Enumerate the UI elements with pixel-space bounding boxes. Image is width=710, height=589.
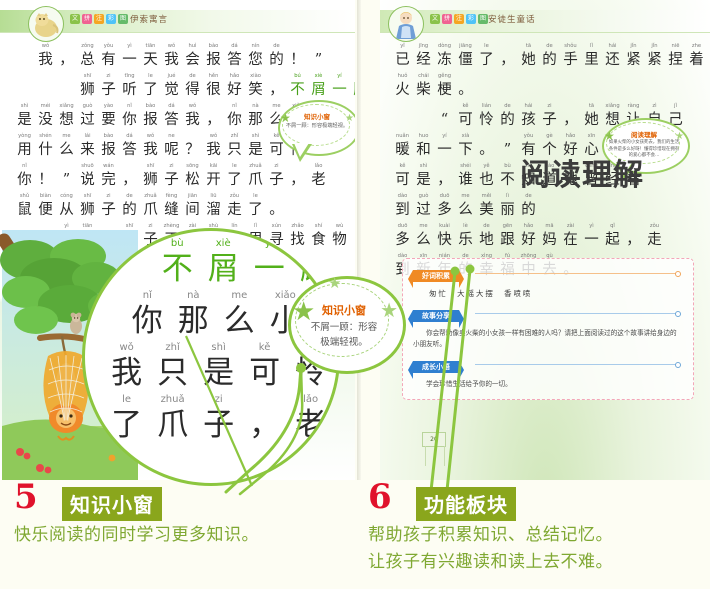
- promo-page-root: 文 拼 注 彩 图 伊索寓言 wǒ我，zǒng总yǒu有yì一tiān天wǒ我h…: [0, 0, 710, 589]
- hanzi: ，: [203, 110, 224, 130]
- pinyin: xiào: [245, 72, 266, 80]
- hanzi: ，: [434, 170, 455, 190]
- pinyin: shuō: [77, 162, 98, 170]
- pinyin: yǒu: [518, 132, 539, 140]
- annotated-char: de的: [119, 192, 140, 220]
- hanzi: ，: [242, 407, 288, 443]
- annotated-char: me么: [413, 222, 434, 250]
- hanzi: 经: [413, 50, 434, 70]
- annotated-char: yí一: [246, 237, 292, 287]
- hanzi: 可: [392, 170, 413, 190]
- hanzi: ，: [560, 110, 581, 130]
- annotated-char: gěng梗: [434, 72, 455, 100]
- pinyin: dòng: [434, 42, 455, 50]
- panel-rule: [475, 364, 679, 365]
- feature-panel: 好词积累匆忙 大摇大摆 香喷喷: [413, 265, 683, 299]
- annotated-char: mā妈: [539, 222, 560, 250]
- annotated-char: de得: [182, 72, 203, 100]
- annotated-char: qǐ起: [602, 222, 623, 250]
- pinyin: zi: [161, 162, 182, 170]
- hanzi: 已: [392, 50, 413, 70]
- annotated-char: zi子: [161, 162, 182, 190]
- annotated-char: jiāng僵: [455, 42, 476, 70]
- hanzi: 跟: [497, 230, 518, 250]
- annotated-char: hěn很: [203, 72, 224, 100]
- text-line: shī狮zi子tīng听le了jué觉de得hěn很hǎo好xiào笑，bú不x…: [14, 72, 355, 102]
- pinyin: dá: [119, 132, 140, 140]
- pinyin: zhǎo: [287, 222, 308, 230]
- annotated-char: ，: [287, 162, 308, 190]
- pinyin: biàn: [35, 192, 56, 200]
- hanzi: 乐: [455, 230, 476, 250]
- pinyin: yì: [581, 222, 602, 230]
- hanzi: 一: [119, 50, 140, 70]
- annotated-char: shī狮: [140, 162, 161, 190]
- hanzi: 在: [560, 230, 581, 250]
- hanzi: 答: [224, 50, 245, 70]
- annotated-char: ，: [623, 222, 644, 250]
- annotated-char: dá答: [119, 132, 140, 160]
- pinyin: wǒ: [140, 132, 161, 140]
- hanzi: 老: [308, 170, 329, 190]
- pinyin: nǐ: [119, 102, 140, 110]
- hanzi: 过: [77, 110, 98, 130]
- badge-icon-4: 彩: [106, 14, 116, 24]
- pinyin: [623, 222, 644, 230]
- pinyin: jiāng: [455, 42, 476, 50]
- pinyin: dào: [392, 192, 413, 200]
- knowledge-bubble-magnified: ★ ★ ★ 知识小窗 不屑一顾：形容 极端轻视。: [288, 276, 400, 394]
- text-line: wǒ我，zǒng总yǒu有yì一tiān天wǒ我huì会bào报dá答nín您d…: [14, 42, 355, 72]
- annotated-char: ，: [434, 162, 455, 190]
- pinyin: gè: [539, 132, 560, 140]
- pinyin: niē: [665, 42, 686, 50]
- hanzi: 多: [434, 200, 455, 220]
- hanzi: 妈: [539, 230, 560, 250]
- hanzi: 快: [434, 230, 455, 250]
- annotated-char: ”: [56, 162, 77, 190]
- annotated-char: biàn便: [35, 192, 56, 220]
- pinyin: shén: [35, 132, 56, 140]
- pinyin: shí: [308, 222, 329, 230]
- hanzi: 我: [35, 50, 56, 70]
- annotated-char: wán完: [98, 162, 119, 190]
- annotated-char: shǒu手: [560, 42, 581, 70]
- annotated-char: yòng用: [14, 132, 35, 160]
- pinyin: liū: [203, 192, 224, 200]
- pinyin: de: [119, 192, 140, 200]
- pinyin: jīng: [413, 42, 434, 50]
- hanzi: 笑: [245, 80, 266, 100]
- annotated-char: duō多: [434, 192, 455, 220]
- pinyin: tīng: [119, 72, 140, 80]
- annotated-char: ，: [119, 162, 140, 190]
- hanzi: 僵: [455, 50, 476, 70]
- pinyin: bú: [287, 72, 308, 80]
- pinyin: le: [140, 72, 161, 80]
- pinyin: shī: [77, 192, 98, 200]
- hanzi: ”: [497, 140, 518, 160]
- pinyin: duō: [392, 222, 413, 230]
- caption-number-6: 6: [368, 480, 392, 514]
- hanzi: ，: [497, 50, 518, 70]
- pinyin: huì: [182, 42, 203, 50]
- annotated-char: kuài快: [434, 222, 455, 250]
- annotated-char: yě也: [476, 162, 497, 190]
- hanzi: 么: [413, 230, 434, 250]
- pinyin: wǒ: [35, 42, 56, 50]
- annotated-char: guò过: [413, 192, 434, 220]
- pinyin: nuǎn: [392, 132, 413, 140]
- annotated-char: xiè屑: [200, 237, 246, 287]
- hanzi: 子: [98, 200, 119, 220]
- pinyin: shéi: [455, 162, 476, 170]
- hanzi: 多: [392, 230, 413, 250]
- pinyin: qǐ: [602, 222, 623, 230]
- hanzi: 梗: [434, 80, 455, 100]
- annotated-char: xiào笑: [245, 72, 266, 100]
- feature-panel: 成长小语学会珍惜生活给予你的一切。: [413, 356, 683, 390]
- pinyin: yí: [434, 132, 455, 140]
- hanzi: ？: [182, 140, 203, 160]
- panel-content: 匆忙 大摇大摆 香喷喷: [413, 288, 683, 299]
- pinyin: shī: [77, 72, 98, 80]
- annotated-char: jǐn紧: [644, 42, 665, 70]
- annotated-char: wǒ我: [35, 42, 56, 70]
- pinyin: de: [476, 222, 497, 230]
- annotated-char: kě可: [242, 341, 288, 391]
- annotated-char: wǒ我: [140, 132, 161, 160]
- pinyin: [455, 72, 476, 80]
- pinyin: méi: [35, 102, 56, 110]
- hanzi: 爪: [150, 407, 196, 443]
- pinyin: [266, 72, 287, 80]
- hanzi: 的: [266, 50, 287, 70]
- pinyin: [434, 102, 455, 110]
- pinyin: xún: [266, 222, 287, 230]
- hanzi: 你: [124, 303, 170, 339]
- hanzi: 紧: [623, 50, 644, 70]
- annotated-char: nà那: [245, 102, 266, 130]
- pinyin: yí: [329, 72, 350, 80]
- hanzi: 听: [119, 80, 140, 100]
- badge-icon-2: 拼: [82, 14, 92, 24]
- hanzi: 美: [476, 200, 497, 220]
- pinyin: yǒu: [98, 42, 119, 50]
- annotated-char: niē捏: [665, 42, 686, 70]
- pinyin: de: [266, 42, 287, 50]
- pinyin: [434, 162, 455, 170]
- hanzi: 了: [140, 80, 161, 100]
- pinyin: zǒng: [77, 42, 98, 50]
- pinyin: huǒ: [392, 72, 413, 80]
- hanzi: 走: [644, 230, 665, 250]
- hanzi: 了: [224, 170, 245, 190]
- annotated-char: yào要: [98, 102, 119, 130]
- annotated-char: liū溜: [203, 192, 224, 220]
- hanzi: 想: [56, 110, 77, 130]
- hanzi: 是: [245, 140, 266, 160]
- pinyin: shì: [14, 102, 35, 110]
- knowledge-bubble-small: ★ ★ 知识小窗 不屑一顾：形容极端轻视。: [278, 100, 355, 164]
- hanzi: 松: [182, 170, 203, 190]
- annotated-char: de的: [266, 42, 287, 70]
- hanzi: 捏: [665, 50, 686, 70]
- pinyin: fèng: [161, 192, 182, 200]
- pinyin: me: [413, 222, 434, 230]
- bubble-body-line1: 不屑一顾：形容: [311, 322, 378, 333]
- annotated-char: nǐ你: [14, 162, 35, 190]
- annotated-char: ”: [308, 42, 329, 70]
- pinyin: lǐ: [245, 222, 266, 230]
- hanzi: 屑: [200, 251, 246, 287]
- pinyin: shī: [119, 222, 140, 230]
- annotated-char: nǐ你: [224, 102, 245, 130]
- pinyin: shì: [196, 341, 242, 355]
- panel-ribbon-label: 故事分享: [413, 310, 459, 322]
- pinyin: wǒ: [203, 132, 224, 140]
- pinyin: shì: [413, 162, 434, 170]
- annotated-char: gēn跟: [497, 222, 518, 250]
- hanzi: 怜: [476, 110, 497, 130]
- annotated-char: zi子: [539, 102, 560, 130]
- pinyin: duō: [434, 192, 455, 200]
- pinyin: zi: [539, 102, 560, 110]
- hanzi: ”: [56, 170, 77, 190]
- badge-icon-1: 文: [430, 14, 440, 24]
- left-page-title: 伊索寓言: [130, 13, 168, 25]
- hanzi: 爪: [245, 170, 266, 190]
- hanzi: 么: [455, 200, 476, 220]
- pinyin: zi: [196, 393, 242, 407]
- pinyin: de: [539, 42, 560, 50]
- hanzi: 可: [455, 110, 476, 130]
- hanzi: ！: [35, 170, 56, 190]
- pinyin: zhǐ: [224, 132, 245, 140]
- annotated-char: jīng经: [413, 42, 434, 70]
- text-line: nǐ你！”shuō说wán完，shī狮zi子sōng松kāi开le了zhuǎ爪z…: [14, 162, 355, 192]
- hanzi: 好: [224, 80, 245, 100]
- hanzi: 冻: [434, 50, 455, 70]
- annotated-char: yì一: [119, 42, 140, 70]
- pinyin: hái: [602, 42, 623, 50]
- pinyin: tiān: [77, 222, 98, 230]
- annotated-char: “: [434, 102, 455, 130]
- hanzi: 得: [182, 80, 203, 100]
- text-line: dào到guò过duō多me么měi美lì丽de的: [392, 192, 710, 222]
- caption-desc-6-line1: 帮助孩子积累知识、总结记忆。: [368, 520, 613, 545]
- hanzi: 么: [216, 303, 262, 339]
- annotated-char: xiè屑: [308, 72, 329, 100]
- pinyin: lái: [77, 132, 98, 140]
- annotated-char: guò过: [77, 102, 98, 130]
- right-page-title: 安徒生童话: [488, 13, 536, 25]
- annotated-char: wǒ我: [104, 341, 150, 391]
- pinyin: kuài: [434, 222, 455, 230]
- annotated-char: yí一: [434, 132, 455, 160]
- hanzi: 狮: [77, 200, 98, 220]
- hanzi: 来: [77, 140, 98, 160]
- hanzi: 间: [182, 200, 203, 220]
- annotated-char: le了: [476, 42, 497, 70]
- hanzi: 下: [455, 140, 476, 160]
- pinyin: hěn: [203, 72, 224, 80]
- pinyin: kāi: [203, 162, 224, 170]
- hanzi: 不: [154, 251, 200, 287]
- pinyin: xiǎng: [602, 102, 623, 110]
- text-line: duō多me么kuài快lè乐de地gēn跟hǎo好mā妈zài在yì一qǐ起，…: [392, 222, 710, 252]
- annotated-char: zhuǎ爪: [245, 162, 266, 190]
- hanzi: 手: [560, 50, 581, 70]
- hanzi: 一: [246, 251, 292, 287]
- annotated-char: ne呢: [161, 132, 182, 160]
- hanzi: 觉: [161, 80, 182, 100]
- pinyin: lì: [497, 192, 518, 200]
- pinyin: me: [56, 132, 77, 140]
- pinyin: nà: [245, 102, 266, 110]
- annotated-char: nà那: [170, 289, 216, 339]
- annotated-char: zhuǎ爪: [140, 192, 161, 220]
- pinyin: bù: [154, 237, 200, 251]
- annotated-char: hǎo好: [224, 72, 245, 100]
- hanzi: 那: [245, 110, 266, 130]
- hanzi: 。: [476, 140, 497, 160]
- pinyin: xià: [455, 132, 476, 140]
- annotated-char: fèng缝: [161, 192, 182, 220]
- bubble-tail-inner: [294, 143, 309, 157]
- pinyin: yí: [246, 237, 292, 251]
- hanzi: 了: [476, 50, 497, 70]
- pinyin: tiān: [140, 42, 161, 50]
- pinyin: de: [182, 72, 203, 80]
- annotated-char: me么: [56, 132, 77, 160]
- hanzi: 溜: [203, 200, 224, 220]
- badge-icon-1: 文: [70, 14, 80, 24]
- annotated-char: wǒ我: [161, 42, 182, 70]
- pinyin: zǒu: [644, 222, 665, 230]
- hanzi: 。: [455, 80, 476, 100]
- annotated-char: huǒ火: [392, 72, 413, 100]
- hanzi: 她: [581, 110, 602, 130]
- hanzi: 鼠: [14, 200, 35, 220]
- hanzi: 那: [170, 303, 216, 339]
- annotated-char: yì一: [581, 222, 602, 250]
- pinyin: hǎo: [560, 132, 581, 140]
- annotated-char: me么: [455, 192, 476, 220]
- annotated-char: hái孩: [518, 102, 539, 130]
- pinyin: wù: [329, 222, 350, 230]
- lion-avatar-icon: [28, 6, 64, 42]
- pinyin: yǐ: [392, 42, 413, 50]
- hanzi: 的: [119, 200, 140, 220]
- annotated-char: zi子: [98, 192, 119, 220]
- hanzi: 有: [98, 50, 119, 70]
- annotated-char: jiān间: [182, 192, 203, 220]
- pinyin: gěng: [434, 72, 455, 80]
- annotated-char: shì是: [14, 102, 35, 130]
- annotated-char: yí一: [329, 72, 350, 100]
- hanzi: ”: [308, 50, 329, 70]
- hanzi: 缝: [161, 200, 182, 220]
- annotated-char: dá答: [224, 42, 245, 70]
- pinyin: nà: [170, 289, 216, 303]
- hanzi: 你: [119, 110, 140, 130]
- hanzi: 狮: [77, 80, 98, 100]
- hanzi: 柴: [413, 80, 434, 100]
- pinyin: hǎo: [518, 222, 539, 230]
- annotated-char: zhǐ只: [224, 132, 245, 160]
- annotated-char: ，: [203, 102, 224, 130]
- caption-desc-6-line2: 让孩子有兴趣读和读上去不难。: [368, 547, 613, 572]
- pinyin: zǒu: [224, 192, 245, 200]
- hanzi: 便: [35, 200, 56, 220]
- pinyin: sōng: [182, 162, 203, 170]
- pinyin: zhuǎ: [140, 192, 161, 200]
- annotated-char: shuō说: [77, 162, 98, 190]
- pinyin: me: [216, 289, 262, 303]
- pinyin: [497, 42, 518, 50]
- pinyin: bào: [203, 42, 224, 50]
- annotated-char: wǒ我: [203, 132, 224, 160]
- pinyin: zì: [644, 102, 665, 110]
- hanzi: 我: [182, 110, 203, 130]
- hanzi: 的: [497, 110, 518, 130]
- bubble-body-text: 不屑一顾：形容极端轻视。: [284, 122, 350, 130]
- pinyin: wǒ: [161, 42, 182, 50]
- pinyin: shì: [245, 132, 266, 140]
- annotated-char: sōng松: [182, 162, 203, 190]
- annotated-char: yǒu有: [98, 42, 119, 70]
- hanzi: 我: [104, 355, 150, 391]
- pinyin: yě: [476, 162, 497, 170]
- caption-number-5: 5: [14, 480, 38, 514]
- hanzi: 用: [14, 140, 35, 160]
- annotated-char: kě可: [455, 102, 476, 130]
- hanzi: 谁: [455, 170, 476, 190]
- text-line: le了zhuǎ爪zi子，lǎo老: [99, 393, 340, 445]
- pinyin: chái: [413, 72, 434, 80]
- hanzi: 我: [161, 50, 182, 70]
- hanzi: 你: [224, 110, 245, 130]
- pinyin: xiè: [200, 237, 246, 251]
- hanzi: 只: [150, 355, 196, 391]
- hanzi: 是: [14, 110, 35, 130]
- panel-rule: [475, 273, 679, 274]
- annotated-char: shǔ鼠: [14, 192, 35, 220]
- pinyin: wǒ: [104, 341, 150, 355]
- pinyin: [560, 102, 581, 110]
- hanzi: 狮: [140, 170, 161, 190]
- hanzi: 一: [329, 80, 350, 100]
- pinyin: bào: [98, 132, 119, 140]
- hanzi: 从: [56, 200, 77, 220]
- hanzi: 没: [35, 110, 56, 130]
- pinyin: le: [245, 192, 266, 200]
- pinyin: lè: [455, 222, 476, 230]
- pinyin: dá: [161, 102, 182, 110]
- badge-icon-3: 注: [94, 14, 104, 24]
- hanzi: 报: [98, 140, 119, 160]
- annotated-char: měi美: [476, 192, 497, 220]
- hanzi: ，: [56, 50, 77, 70]
- pinyin: bù: [497, 162, 518, 170]
- panel-ribbon-label: 好词积累: [413, 270, 459, 282]
- annotated-char: cóng从: [56, 192, 77, 220]
- pinyin: zhuǎ: [150, 393, 196, 407]
- hanzi: 答: [161, 110, 182, 130]
- pinyin: [203, 102, 224, 110]
- annotated-char: lè乐: [455, 222, 476, 250]
